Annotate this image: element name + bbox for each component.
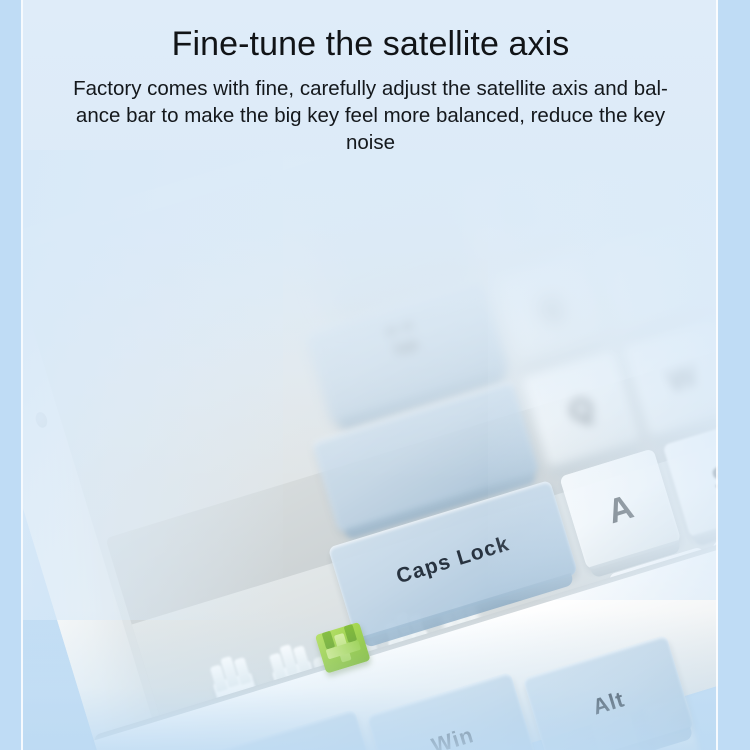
content-panel: Q Q ⇤⇥ Tab Q [23,0,718,750]
panel-edge-left [21,0,23,750]
description-line-2: ance bar to make the big key feel more b… [34,102,707,129]
keyboard-perspective-group: Q Q ⇤⇥ Tab Q [23,150,718,750]
description-line-1: Factory comes with fine, carefully adjus… [34,75,707,102]
keyboard-photo: Q Q ⇤⇥ Tab Q [23,150,718,750]
page-description: Factory comes with fine, carefully adjus… [31,75,710,156]
description-line-3: noise [34,129,707,156]
image-canvas: Q Q ⇤⇥ Tab Q [0,0,750,750]
panel-edge-right [716,0,718,750]
page-title: Fine-tune the satellite axis [31,22,710,66]
marketing-text-block: Fine-tune the satellite axis Factory com… [23,0,718,156]
